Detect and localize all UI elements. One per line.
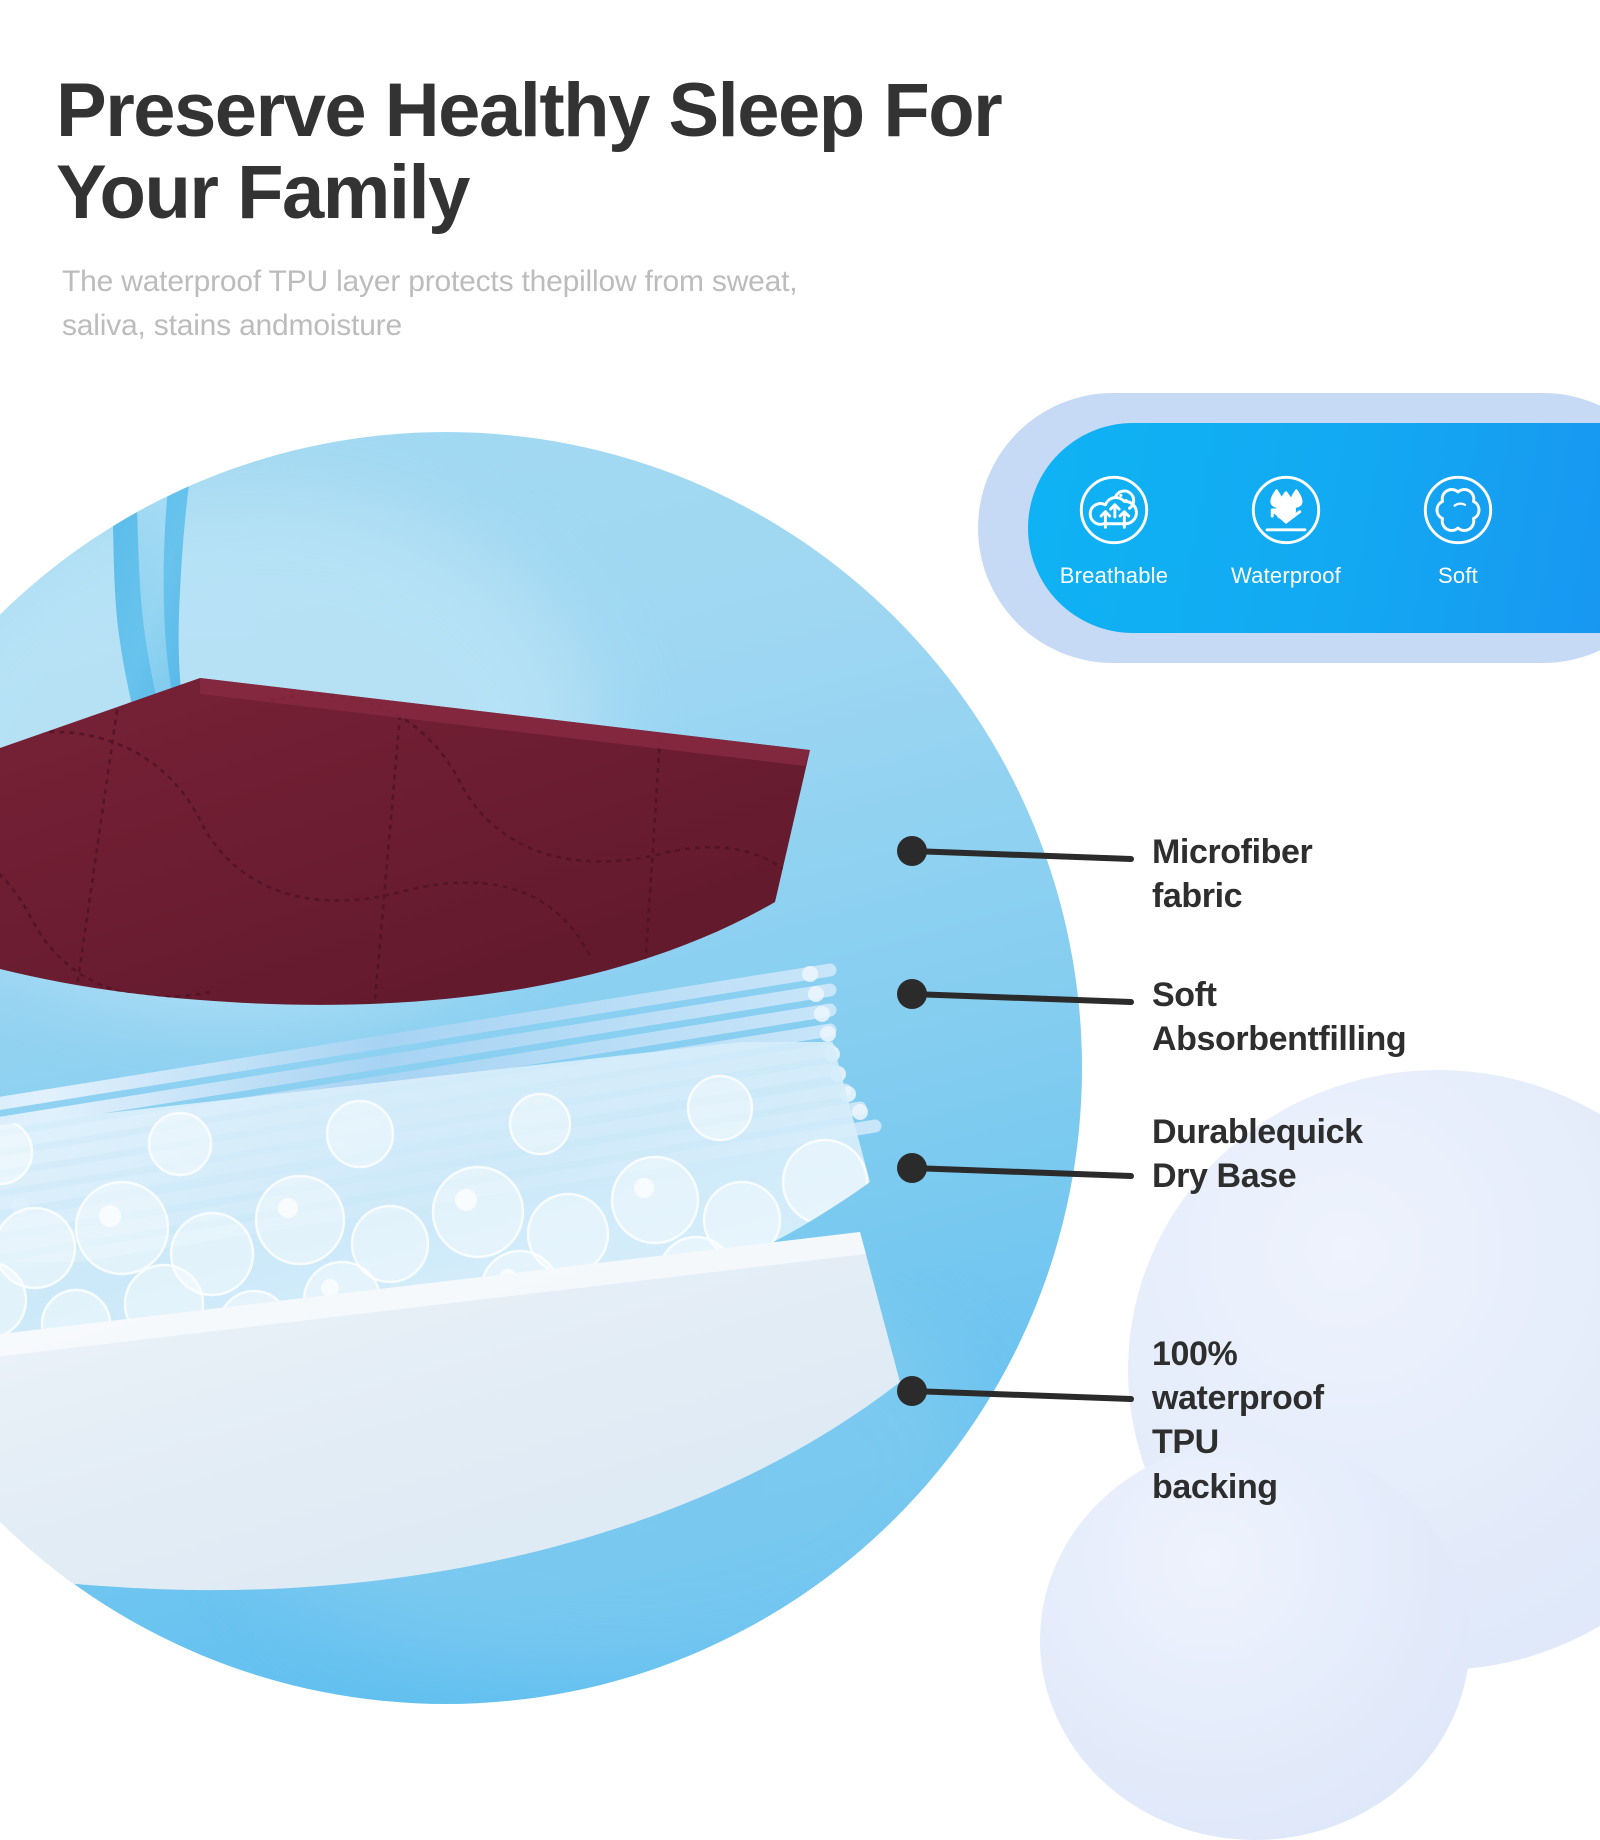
page-subtitle: The waterproof TPU layer protects thepil… (62, 260, 942, 347)
badge-soft[interactable]: Soft (1372, 467, 1544, 589)
badge-label: Waterproof (1231, 563, 1341, 589)
callout-label: Durablequick Dry Base (1152, 1110, 1363, 1198)
page-title: Preserve Healthy Sleep For Your Family (56, 70, 1206, 234)
waterproof-icon (1243, 467, 1329, 553)
soft-icon (1415, 467, 1501, 553)
callout-label: Soft Absorbentfilling (1152, 973, 1406, 1061)
product-scene (0, 432, 1082, 1704)
leader-line (895, 978, 1135, 1018)
leader-line (895, 1152, 1135, 1192)
leader-line (895, 1375, 1135, 1415)
badge-waterproof[interactable]: Waterproof (1200, 467, 1372, 589)
badge-breathable[interactable]: Breathable (1028, 467, 1200, 589)
callout-label: Microfiber fabric (1152, 830, 1312, 918)
layer-tpu-backing (0, 1222, 960, 1652)
header: Preserve Healthy Sleep For Your Family T… (56, 70, 1206, 347)
feature-badge-panel: Breathable Waterproof (978, 393, 1600, 663)
badge-label: Soft (1438, 563, 1478, 589)
breathable-icon (1071, 467, 1157, 553)
leader-line (895, 835, 1135, 875)
badge-label: Breathable (1060, 563, 1168, 589)
callout-label: 100% waterproof TPU backing (1152, 1332, 1324, 1509)
